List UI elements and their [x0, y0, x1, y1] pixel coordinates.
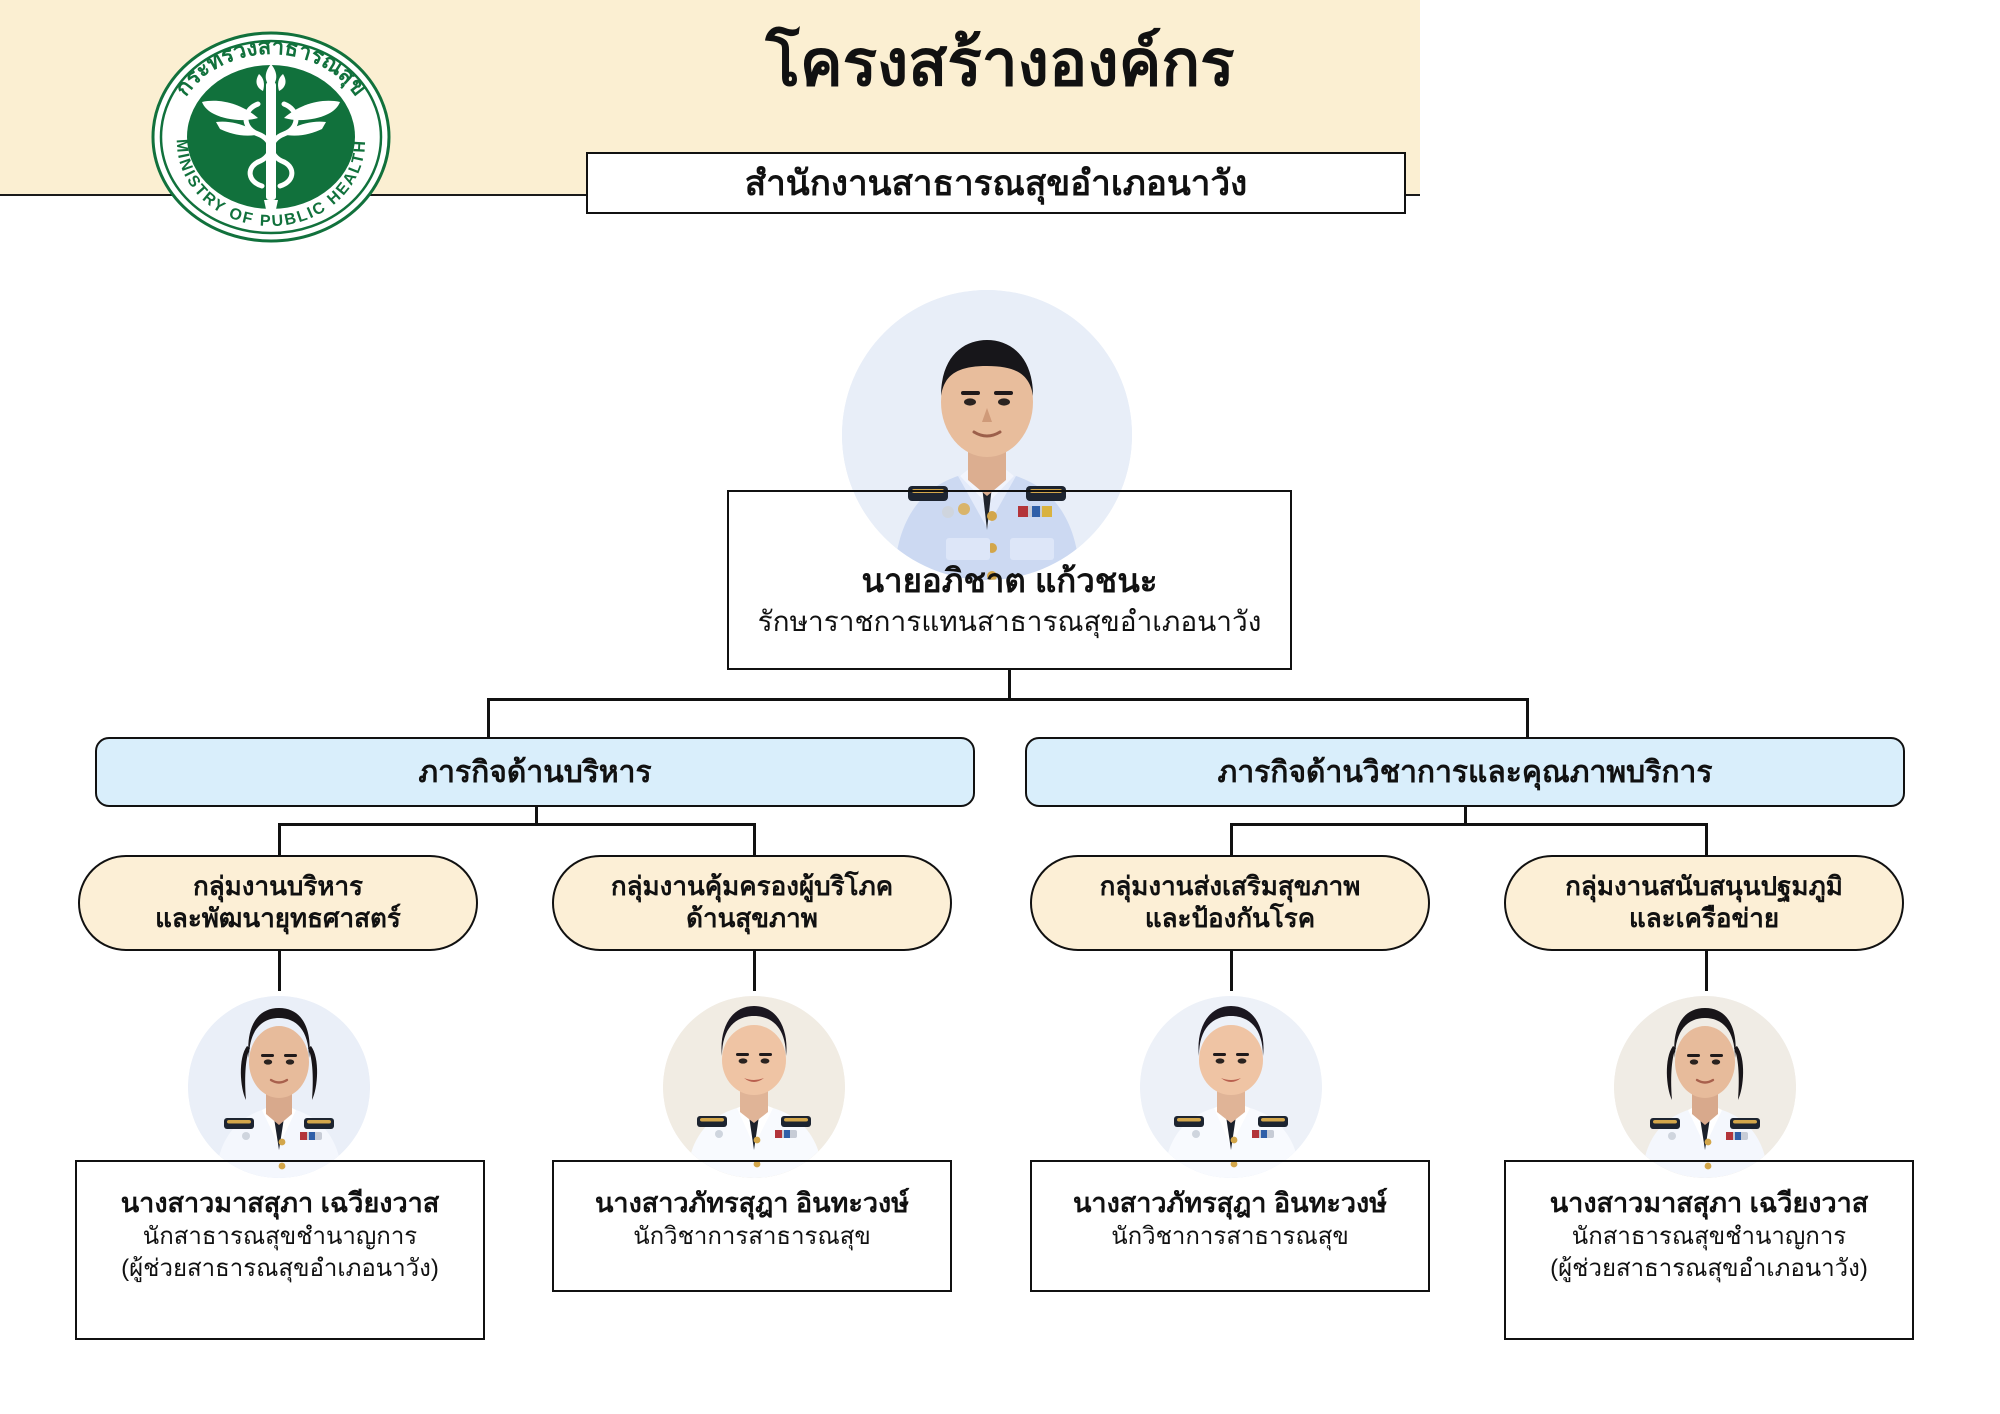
- staff-portrait-2: [663, 996, 845, 1178]
- staff-portrait-3: [1140, 996, 1322, 1178]
- office-name-box: สำนักงานสาธารณสุขอำเภอนาวัง: [586, 152, 1406, 214]
- connector-director-down: [1008, 670, 1011, 700]
- ministry-logo-icon: กระทรวงสาธารณสุข MINISTRY OF PUBLIC HEAL…: [146, 30, 396, 245]
- connector-grp2-down: [753, 823, 756, 855]
- staff-portrait-4: [1614, 996, 1796, 1178]
- connector-staff3: [1230, 951, 1233, 991]
- group-health-promotion-line1: กลุ่มงานส่งเสริมสุขภาพ: [1100, 871, 1361, 903]
- group-admin-strategy[interactable]: กลุ่มงานบริหาร และพัฒนายุทธศาสตร์: [78, 855, 478, 951]
- director-info: นายอภิชาต แก้วชนะ รักษาราชการแทนสาธารณสุ…: [727, 560, 1292, 641]
- connector-div2-bus: [1230, 823, 1708, 826]
- connector-div1-bus: [278, 823, 756, 826]
- group-consumer-protection-line2: ด้านสุขภาพ: [686, 903, 818, 935]
- staff-role-2-line1: นักวิชาการสาธารณสุข: [552, 1221, 952, 1253]
- connector-staff2: [753, 951, 756, 991]
- group-health-promotion[interactable]: กลุ่มงานส่งเสริมสุขภาพ และป้องกันโรค: [1030, 855, 1430, 951]
- connector-grp4-down: [1705, 823, 1708, 855]
- director-role: รักษาราชการแทนสาธารณสุขอำเภอนาวัง: [727, 603, 1292, 641]
- staff-role-3-line1: นักวิชาการสาธารณสุข: [1030, 1221, 1430, 1253]
- group-admin-strategy-line2: และพัฒนายุทธศาสตร์: [155, 903, 401, 935]
- staff-portrait-1: [188, 996, 370, 1178]
- staff-name-2: นางสาวภัทรสุฎา อินทะวงษ์: [552, 1186, 952, 1221]
- division-academic-quality[interactable]: ภารกิจด้านวิชาการและคุณภาพบริการ: [1025, 737, 1905, 807]
- connector-grp1-down: [278, 823, 281, 855]
- group-health-promotion-line2: และป้องกันโรค: [1145, 903, 1315, 935]
- group-admin-strategy-line1: กลุ่มงานบริหาร: [193, 871, 363, 903]
- staff-name-4: นางสาวมาสสุภา เฉวียงวาส: [1504, 1186, 1914, 1221]
- staff-info-4: นางสาวมาสสุภา เฉวียงวาส นักสาธารณสุขชำนา…: [1504, 1186, 1914, 1285]
- division-academic-quality-label: ภารกิจด้านวิชาการและคุณภาพบริการ: [1218, 749, 1713, 796]
- connector-division-right-down: [1526, 698, 1529, 737]
- connector-divisions-bus: [487, 698, 1529, 701]
- connector-grp3-down: [1230, 823, 1233, 855]
- connector-staff4: [1705, 951, 1708, 991]
- staff-role-4-line2: (ผู้ช่วยสาธารณสุขอำเภอนาวัง): [1504, 1253, 1914, 1285]
- group-primary-care-network-line2: และเครือข่าย: [1629, 903, 1779, 935]
- staff-role-1-line1: นักสาธารณสุขชำนาญการ: [75, 1221, 485, 1253]
- staff-info-1: นางสาวมาสสุภา เฉวียงวาส นักสาธารณสุขชำนา…: [75, 1186, 485, 1285]
- group-consumer-protection[interactable]: กลุ่มงานคุ้มครองผู้บริโภค ด้านสุขภาพ: [552, 855, 952, 951]
- group-primary-care-network-line1: กลุ่มงานสนับสนุนปฐมภูมิ: [1565, 871, 1843, 903]
- staff-role-1-line2: (ผู้ช่วยสาธารณสุขอำเภอนาวัง): [75, 1253, 485, 1285]
- group-consumer-protection-line1: กลุ่มงานคุ้มครองผู้บริโภค: [611, 871, 893, 903]
- office-name-label: สำนักงานสาธารณสุขอำเภอนาวัง: [745, 156, 1247, 211]
- org-chart-page: กระทรวงสาธารณสุข MINISTRY OF PUBLIC HEAL…: [0, 0, 2000, 1414]
- connector-division-left-down: [487, 698, 490, 737]
- staff-name-3: นางสาวภัทรสุฎา อินทะวงษ์: [1030, 1186, 1430, 1221]
- director-name: นายอภิชาต แก้วชนะ: [727, 560, 1292, 603]
- staff-info-2: นางสาวภัทรสุฎา อินทะวงษ์ นักวิชาการสาธาร…: [552, 1186, 952, 1253]
- staff-role-4-line1: นักสาธารณสุขชำนาญการ: [1504, 1221, 1914, 1253]
- division-administration[interactable]: ภารกิจด้านบริหาร: [95, 737, 975, 807]
- staff-info-3: นางสาวภัทรสุฎา อินทะวงษ์ นักวิชาการสาธาร…: [1030, 1186, 1430, 1253]
- staff-name-1: นางสาวมาสสุภา เฉวียงวาส: [75, 1186, 485, 1221]
- group-primary-care-network[interactable]: กลุ่มงานสนับสนุนปฐมภูมิ และเครือข่าย: [1504, 855, 1904, 951]
- division-administration-label: ภารกิจด้านบริหาร: [418, 749, 651, 796]
- connector-staff1: [278, 951, 281, 991]
- page-title: โครงสร้างองค์กร: [560, 28, 1440, 98]
